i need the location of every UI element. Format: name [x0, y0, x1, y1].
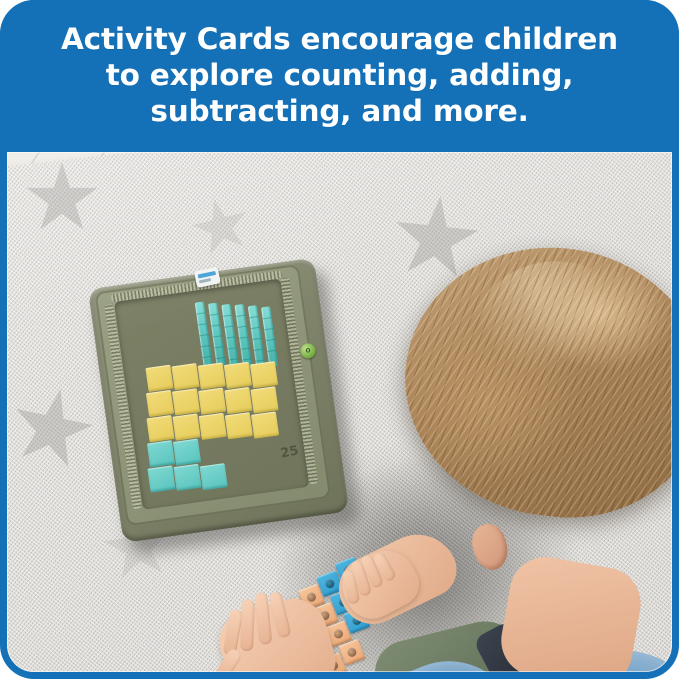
hair-part — [458, 243, 637, 402]
finger — [240, 599, 255, 651]
child-figure — [7, 152, 672, 672]
banner-header: Activity Cards encourage children to exp… — [0, 0, 679, 152]
child-neck — [496, 551, 647, 672]
product-banner-card: Activity Cards encourage children to exp… — [0, 0, 679, 679]
child-ear — [467, 520, 514, 574]
child-hair — [390, 231, 672, 534]
photo-scene: o 25 — [7, 152, 672, 672]
product-photo: o 25 — [7, 152, 672, 672]
headline-line-2: to explore counting, adding, — [61, 58, 618, 94]
headline-line-1: Activity Cards encourage children — [61, 22, 618, 58]
headline-line-3: subtracting, and more. — [61, 94, 618, 130]
page-title: Activity Cards encourage children to exp… — [39, 22, 640, 129]
finger — [268, 591, 292, 639]
thumb — [213, 647, 243, 672]
child-left-hand — [212, 591, 341, 672]
